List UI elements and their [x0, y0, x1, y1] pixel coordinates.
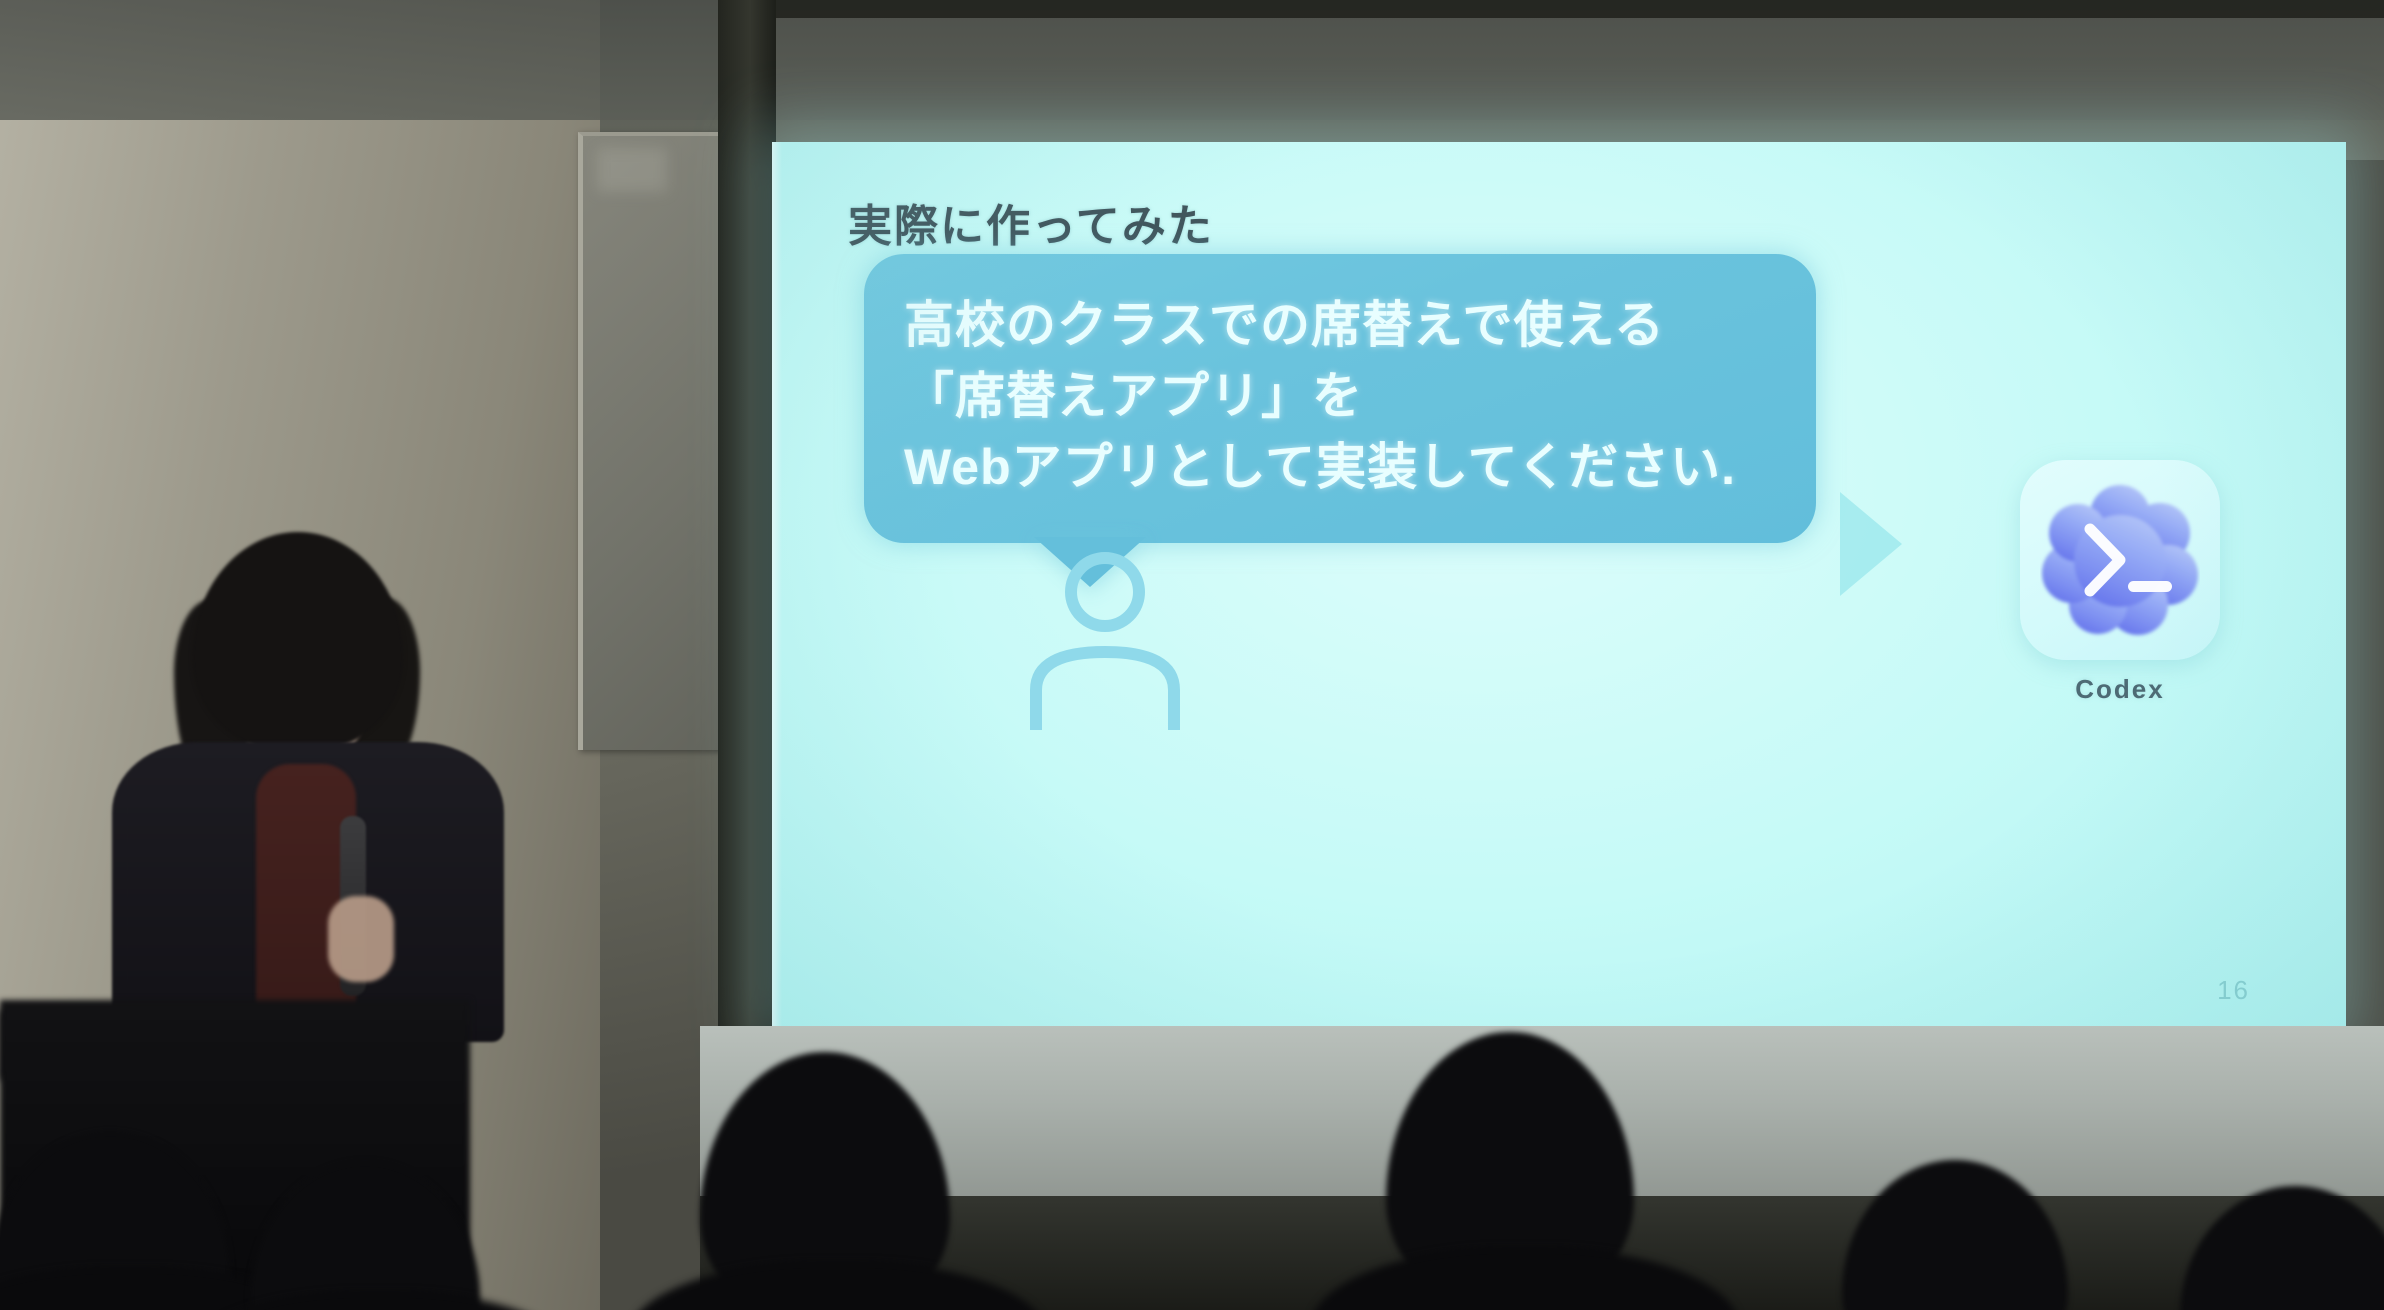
- codex-blob-icon: [2040, 481, 2200, 639]
- prompt-bubble-body: 高校のクラスでの席替えで使える 「席替えアプリ」を Webアプリとして実装してく…: [864, 254, 1816, 543]
- projection-frame-left-edge: [718, 0, 776, 1040]
- projected-slide: 実際に作ってみた 高校のクラスでの席替えで使える 「席替えアプリ」を Webアプ…: [772, 142, 2346, 1034]
- codex-app-icon-block: Codex: [2004, 460, 2236, 705]
- projection-left-glow: [772, 142, 782, 1034]
- person-avatar-icon: [1010, 540, 1200, 730]
- slide-page-number: 16: [2217, 975, 2250, 1006]
- presenter-hand: [328, 896, 394, 982]
- prompt-line-2: 「席替えアプリ」を: [904, 361, 1776, 432]
- screenshot-stage: 実際に作ってみた 高校のクラスでの席替えで使える 「席替えアプリ」を Webアプ…: [0, 0, 2384, 1310]
- upper-wall-shadow: [0, 0, 2384, 120]
- codex-label: Codex: [2004, 674, 2236, 705]
- prompt-line-1: 高校のクラスでの席替えで使える: [904, 290, 1776, 361]
- projection-frame-top: [718, 0, 2384, 18]
- wall-panel-sheen: [597, 148, 667, 192]
- presenter-with-microphone: [96, 520, 516, 1040]
- codex-icon-tile: [2020, 460, 2220, 660]
- prompt-line-3: Webアプリとして実装してください.: [904, 432, 1776, 503]
- wall-panel: [578, 132, 725, 750]
- prompt-speech-bubble: 高校のクラスでの席替えで使える 「席替えアプリ」を Webアプリとして実装してく…: [864, 254, 1816, 543]
- presenter-hair: [192, 532, 404, 750]
- slide-title: 実際に作ってみた: [848, 190, 1214, 254]
- right-arrow-icon: [1840, 492, 1902, 596]
